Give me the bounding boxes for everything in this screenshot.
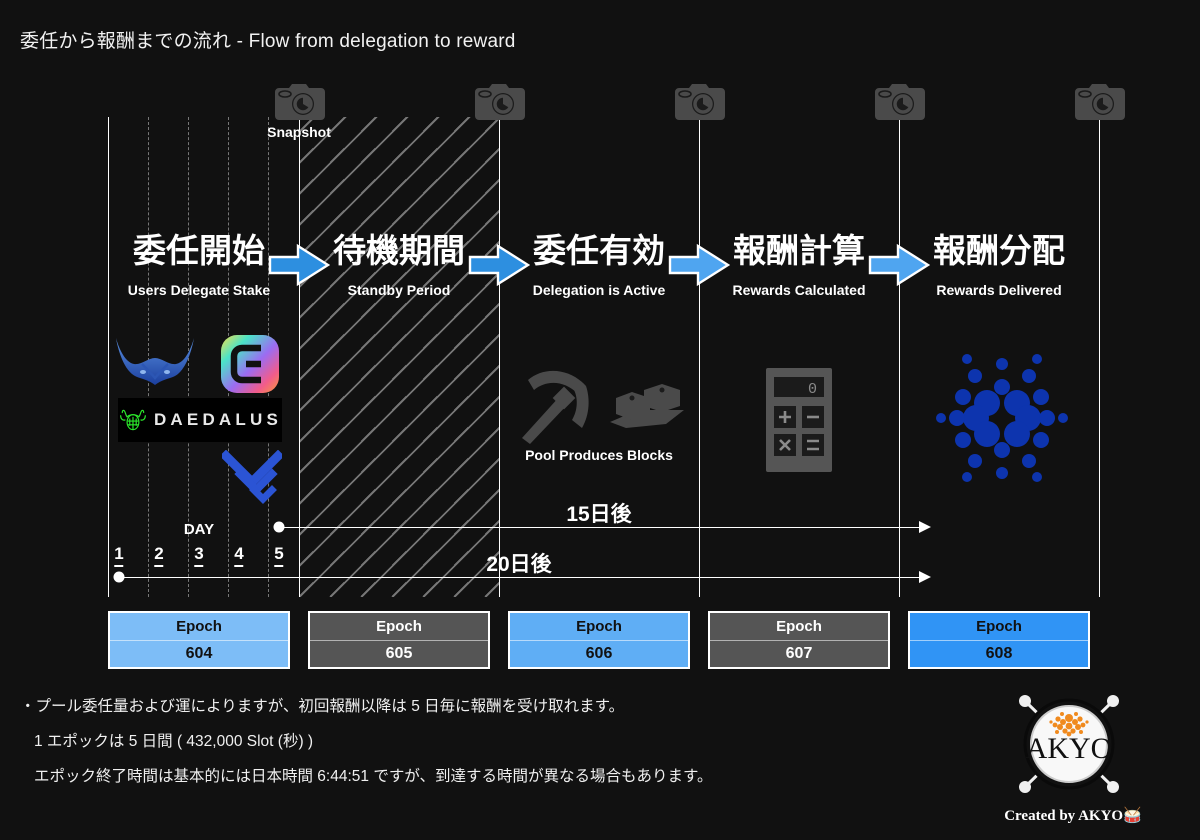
measure-15-days-label: 15日後 xyxy=(566,498,631,528)
day-number-3: 3 xyxy=(194,545,203,567)
column-separator-4 xyxy=(899,117,900,597)
snapshot-camera-3-icon xyxy=(671,78,727,122)
day-number-2: 2 xyxy=(154,545,163,567)
footnote-3: エポック終了時間は基本的には日本時間 6:44:51 ですが、到達する時間が異な… xyxy=(20,768,980,785)
epoch-label: Epoch xyxy=(510,613,688,641)
epoch-label: Epoch xyxy=(910,613,1088,641)
measure-20-days-start-dot xyxy=(114,572,125,583)
pool-icons-group xyxy=(516,358,686,444)
measure-15-days-arrowhead xyxy=(919,521,931,533)
flow-arrow-4-icon xyxy=(868,242,930,288)
snapshot-camera-5-icon xyxy=(1071,78,1127,122)
snapshot-label: Snapshot xyxy=(267,124,331,140)
epoch-label: Epoch xyxy=(710,613,888,641)
column-separator-0 xyxy=(108,117,109,597)
standby-hatch-band xyxy=(299,117,499,597)
lace-wallet-icon xyxy=(222,450,282,506)
column-separator-2 xyxy=(499,117,500,597)
cardano-logo xyxy=(929,345,1075,491)
created-by-credit: Created by AKYO🥁 xyxy=(968,806,1178,825)
akyo-logo: AKYO xyxy=(1010,688,1128,800)
eternl-wallet-icon xyxy=(220,334,280,394)
flow-arrow-3-icon xyxy=(668,242,730,288)
footnote-2: 1 エポックは 5 日間 ( 432,000 Slot (秒) ) xyxy=(20,733,980,750)
column-separator-5 xyxy=(1099,117,1100,597)
flow-arrow-2-icon xyxy=(468,242,530,288)
flow-arrow-1-icon xyxy=(268,242,330,288)
day-number-4: 4 xyxy=(234,545,243,567)
epoch-box-606[interactable]: Epoch 606 xyxy=(508,611,690,669)
drum-emoji-icon: 🥁 xyxy=(1123,806,1142,824)
pickaxe-icon xyxy=(522,371,589,444)
epoch-number: 606 xyxy=(510,641,688,668)
epoch-label: Epoch xyxy=(310,613,488,641)
epoch-box-608[interactable]: Epoch 608 xyxy=(908,611,1090,669)
flow-diagram-page: 委任から報酬までの流れ - Flow from delegation to re… xyxy=(0,0,1200,840)
epoch-number: 608 xyxy=(910,641,1088,668)
epoch-number: 605 xyxy=(310,641,488,668)
calculator-icon: 0 xyxy=(766,368,832,472)
footnotes: ・プール委任量および運によりますが、初回報酬以降は 5 日毎に報酬を受け取れます… xyxy=(20,698,980,803)
day-axis-label: DAY xyxy=(184,521,214,538)
yoroi-wallet-icon xyxy=(112,334,198,392)
daedalus-bull-icon xyxy=(118,398,148,442)
epoch-box-607[interactable]: Epoch 607 xyxy=(708,611,890,669)
epoch-box-604[interactable]: Epoch 604 xyxy=(108,611,290,669)
day-number-1: 1 xyxy=(114,545,123,567)
epoch-number: 604 xyxy=(110,641,288,668)
day-number-5: 5 xyxy=(274,545,283,567)
blocks-icon xyxy=(610,384,684,428)
epoch-box-605[interactable]: Epoch 605 xyxy=(308,611,490,669)
akyo-logo-text: AKYO xyxy=(1026,732,1113,765)
calculator-display: 0 xyxy=(808,381,817,398)
measure-20-days-label: 20日後 xyxy=(486,548,551,578)
snapshot-camera-4-icon xyxy=(871,78,927,122)
epoch-number: 607 xyxy=(710,641,888,668)
column-separator-3 xyxy=(699,117,700,597)
column-separator-1 xyxy=(299,117,300,597)
diagram-canvas: Snapshot 委任開始 Users Delegate Stake 待機期間 … xyxy=(0,0,1200,690)
daedalus-wallet-icon: DAEDALUS xyxy=(118,398,282,442)
footnote-1: ・プール委任量および運によりますが、初回報酬以降は 5 日毎に報酬を受け取れます… xyxy=(20,698,980,715)
snapshot-camera-2-icon xyxy=(471,78,527,122)
measure-20-days-arrowhead xyxy=(919,571,931,583)
snapshot-camera-1-icon xyxy=(271,78,327,122)
pool-produces-blocks-label: Pool Produces Blocks xyxy=(499,447,699,463)
credit-text: Created by AKYO xyxy=(1004,808,1123,824)
daedalus-label: DAEDALUS xyxy=(154,410,282,430)
epoch-label: Epoch xyxy=(110,613,288,641)
measure-15-days-start-dot xyxy=(274,522,285,533)
